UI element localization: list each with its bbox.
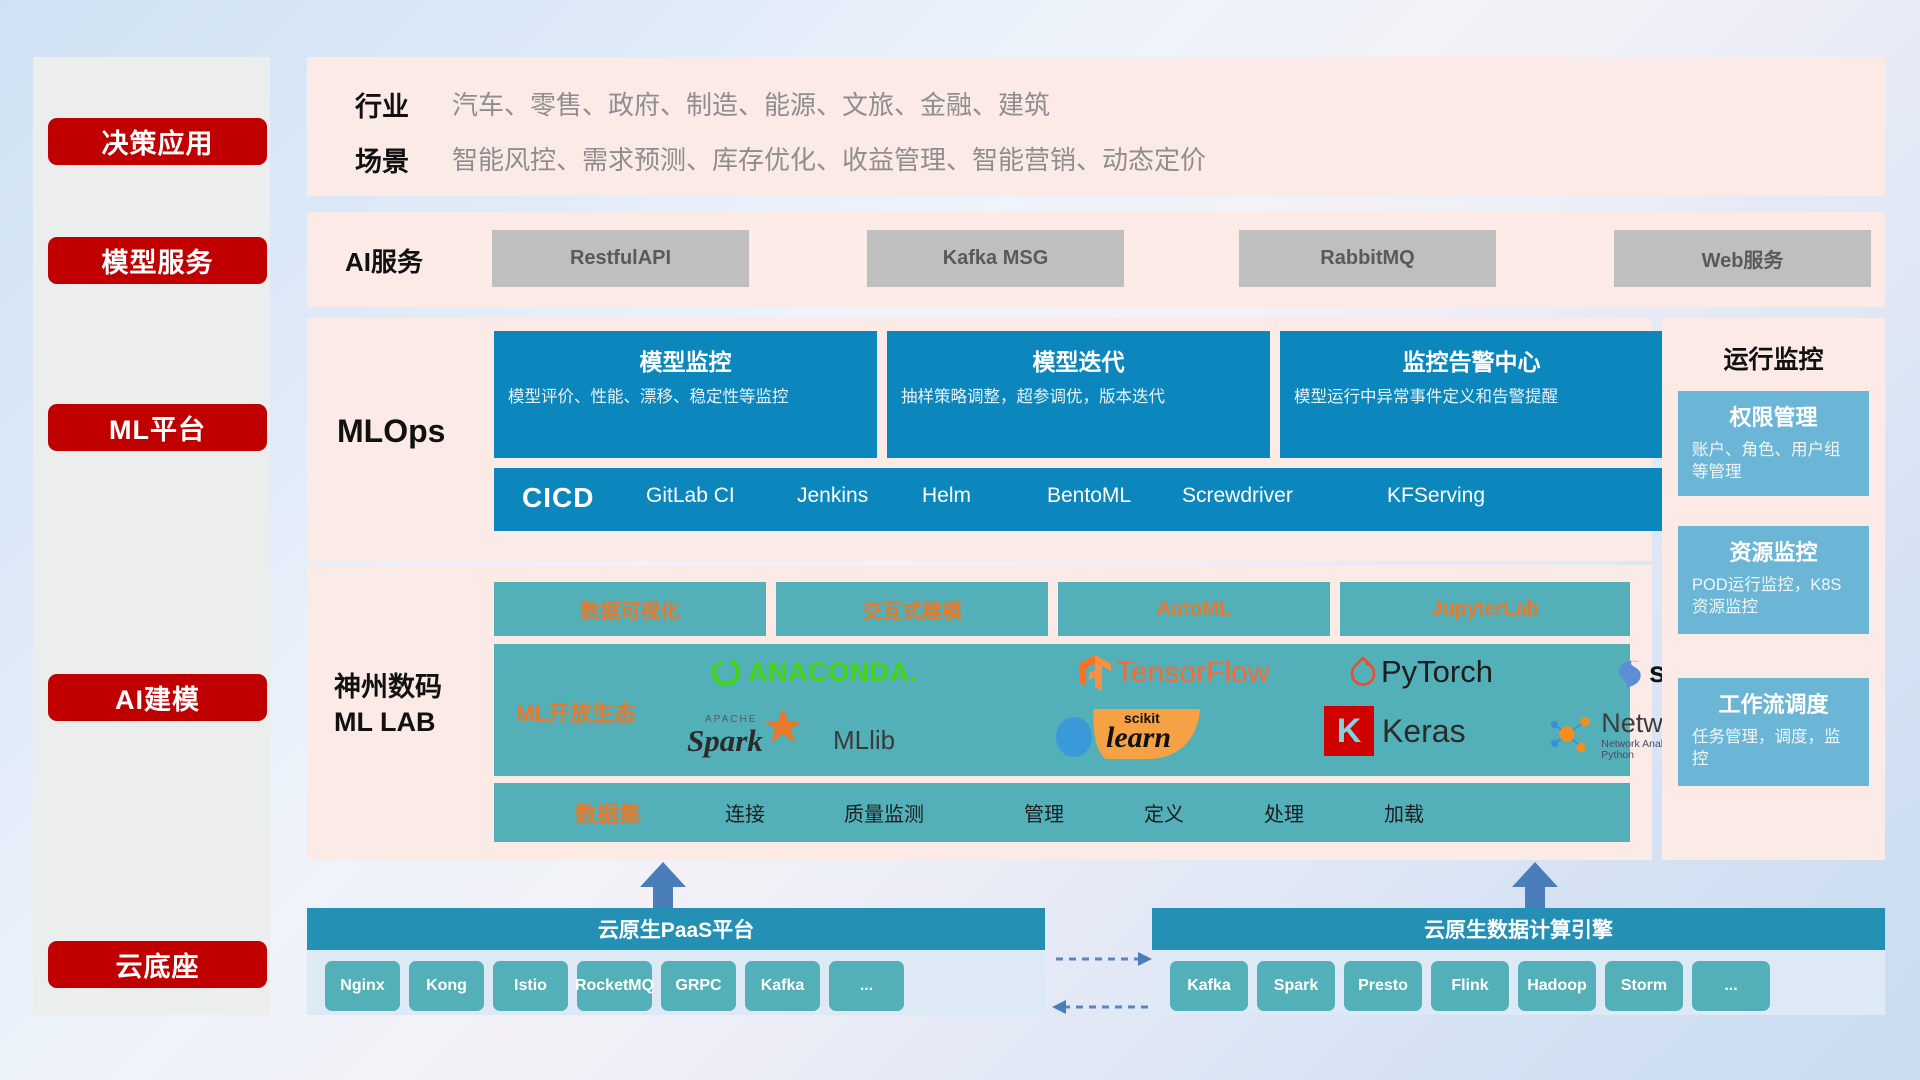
mllab-tab-automl[interactable]: AutoML xyxy=(1058,582,1330,636)
architecture-diagram: 决策应用 模型服务 ML平台 AI建模 云底座 行业 汽车、零售、政府、制造、能… xyxy=(0,0,1920,1080)
ai-service-chip-restfulapi[interactable]: RestfulAPI xyxy=(492,230,749,287)
dataset-item-process[interactable]: 处理 xyxy=(1264,798,1304,827)
keras-text: Keras xyxy=(1382,713,1466,750)
scikit-learn-logo: scikit learn xyxy=(1054,707,1212,761)
mlops-band: MLOps 模型监控 模型评价、性能、漂移、稳定性等监控 模型迭代 抽样策略调整… xyxy=(307,318,1652,561)
run-monitor-card-workflow[interactable]: 工作流调度 任务管理，调度，监控 xyxy=(1678,678,1869,786)
left-rail xyxy=(33,57,270,1015)
card-title: 模型迭代 xyxy=(887,343,1270,377)
ai-service-chip-rabbitmq[interactable]: RabbitMQ xyxy=(1239,230,1496,287)
cicd-item-jenkins[interactable]: Jenkins xyxy=(797,484,901,508)
run-monitor-title: 运行监控 xyxy=(1662,340,1885,376)
mllab-label-line1: 神州数码 xyxy=(334,670,442,705)
cicd-item-gitlab-ci[interactable]: GitLab CI xyxy=(646,484,750,508)
rail-item-ai-modeling[interactable]: AI建模 xyxy=(48,674,267,721)
pytorch-logo: PyTorch xyxy=(1349,654,1493,690)
paas-node-grpc[interactable]: GRPC xyxy=(661,961,736,1011)
engine-node-more[interactable]: ... xyxy=(1692,961,1770,1011)
keras-logo: K Keras xyxy=(1324,706,1466,756)
dataset-strip: 数据集 连接 质量监测 管理 定义 处理 加载 xyxy=(494,783,1630,842)
engine-node-kafka[interactable]: Kafka xyxy=(1170,961,1248,1011)
decision-band: 行业 汽车、零售、政府、制造、能源、文旅、金融、建筑 场景 智能风控、需求预测、… xyxy=(307,57,1885,196)
chip-label: Kafka MSG xyxy=(943,247,1049,270)
card-title: 资源监控 xyxy=(1678,535,1869,567)
decision-row-label-scenario: 场景 xyxy=(355,140,409,179)
keras-mark-letter: K xyxy=(1337,712,1362,751)
engine-node-storm[interactable]: Storm xyxy=(1605,961,1683,1011)
rail-item-model-service[interactable]: 模型服务 xyxy=(48,237,267,284)
dataset-item-connect[interactable]: 连接 xyxy=(725,798,765,827)
card-desc: 任务管理，调度，监控 xyxy=(1692,726,1855,771)
mlops-label: MLOps xyxy=(337,413,445,450)
card-title: 监控告警中心 xyxy=(1280,343,1663,377)
decision-row-value-industry: 汽车、零售、政府、制造、能源、文旅、金融、建筑 xyxy=(452,85,1050,122)
ecosystem-label: ML开放生态 xyxy=(516,696,636,728)
cicd-lead-label: CICD xyxy=(522,482,594,514)
scikit-orange-blob: scikit learn xyxy=(1092,707,1212,761)
mllab-tab-interactive-modeling[interactable]: 交互式建模 xyxy=(776,582,1048,636)
ai-service-chip-web-service[interactable]: Web服务 xyxy=(1614,230,1871,287)
mllab-label: 神州数码 ML LAB xyxy=(334,670,442,740)
cicd-item-screwdriver[interactable]: Screwdriver xyxy=(1182,484,1286,508)
cicd-item-kfserving[interactable]: KFServing xyxy=(1387,484,1491,508)
paas-node-rocketmq[interactable]: RocketMQ xyxy=(577,961,652,1011)
run-monitor-card-resources[interactable]: 资源监控 POD运行监控，K8S资源监控 xyxy=(1678,526,1869,634)
mllab-label-line2: ML LAB xyxy=(334,705,442,740)
spark-mark: APACHE Spark xyxy=(679,710,829,762)
cicd-item-bentoml[interactable]: BentoML xyxy=(1047,484,1151,508)
tensorflow-logo: TensorFlow xyxy=(1077,654,1269,692)
networkx-graph-icon xyxy=(1549,712,1596,758)
engine-node-presto[interactable]: Presto xyxy=(1344,961,1422,1011)
rail-label: 决策应用 xyxy=(102,122,214,161)
paas-node-kong[interactable]: Kong xyxy=(409,961,484,1011)
anaconda-logo: ANACONDA. xyxy=(709,655,918,689)
dataset-item-load[interactable]: 加载 xyxy=(1384,798,1424,827)
paas-box: 云原生PaaS平台 Nginx Kong Istio RocketMQ GRPC… xyxy=(307,908,1045,1015)
spark-star-icon xyxy=(763,706,803,744)
mllib-text: MLlib xyxy=(833,725,895,756)
ai-service-band: AI服务 RestfulAPI Kafka MSG RabbitMQ Web服务 xyxy=(307,212,1885,307)
mlops-card-alert-center[interactable]: 监控告警中心 模型运行中异常事件定义和告警提醒 xyxy=(1280,331,1663,458)
mlops-cicd-strip: CICD GitLab CI Jenkins Helm BentoML Scre… xyxy=(494,468,1663,531)
paas-node-more[interactable]: ... xyxy=(829,961,904,1011)
dataset-item-manage[interactable]: 管理 xyxy=(1024,798,1064,827)
paas-node-nginx[interactable]: Nginx xyxy=(325,961,400,1011)
anaconda-icon xyxy=(709,655,743,689)
anaconda-text: ANACONDA. xyxy=(748,657,918,688)
chip-label: RabbitMQ xyxy=(1320,247,1414,270)
pytorch-text: PyTorch xyxy=(1381,654,1493,690)
mlops-card-model-iteration[interactable]: 模型迭代 抽样策略调整，超参调优，版本迭代 xyxy=(887,331,1270,458)
tensorflow-icon xyxy=(1077,654,1113,692)
dataset-item-quality[interactable]: 质量监测 xyxy=(844,798,924,827)
arrow-up-paas-icon xyxy=(640,862,686,908)
mllab-tab-data-visualization[interactable]: 数据可视化 xyxy=(494,582,766,636)
card-desc: POD运行监控，K8S资源监控 xyxy=(1692,574,1855,619)
dataset-label: 数据集 xyxy=(575,797,641,829)
rail-item-cloud-base[interactable]: 云底座 xyxy=(48,941,267,988)
data-engine-header: 云原生数据计算引擎 xyxy=(1152,908,1885,950)
pytorch-icon xyxy=(1349,655,1377,689)
rail-item-ml-platform[interactable]: ML平台 xyxy=(48,404,267,451)
tensorflow-text: TensorFlow xyxy=(1116,656,1269,690)
run-monitor-panel: 运行监控 权限管理 账户、角色、用户组等管理 资源监控 POD运行监控，K8S资… xyxy=(1662,318,1885,860)
rail-item-decision[interactable]: 决策应用 xyxy=(48,118,267,165)
decision-row-label-industry: 行业 xyxy=(355,85,409,124)
chip-label: Web服务 xyxy=(1702,244,1784,273)
keras-mark-icon: K xyxy=(1324,706,1374,756)
bidirectional-connector xyxy=(1050,945,1154,1025)
spark-text: Spark xyxy=(687,723,763,759)
card-title: 权限管理 xyxy=(1678,400,1869,432)
cicd-item-helm[interactable]: Helm xyxy=(922,484,1026,508)
card-desc: 模型运行中异常事件定义和告警提醒 xyxy=(1294,386,1649,408)
dataset-item-define[interactable]: 定义 xyxy=(1144,798,1184,827)
chip-label: RestfulAPI xyxy=(570,247,671,270)
rail-label: ML平台 xyxy=(109,408,206,447)
card-desc: 模型评价、性能、漂移、稳定性等监控 xyxy=(508,386,863,408)
mlops-card-model-monitoring[interactable]: 模型监控 模型评价、性能、漂移、稳定性等监控 xyxy=(494,331,877,458)
mllab-band: 神州数码 ML LAB 数据可视化 交互式建模 AutoML JupyterLa… xyxy=(307,565,1652,860)
engine-node-hadoop[interactable]: Hadoop xyxy=(1518,961,1596,1011)
data-engine-box: 云原生数据计算引擎 Kafka Spark Presto Flink Hadoo… xyxy=(1152,908,1885,1015)
mllab-tab-jupyterlab[interactable]: JupyterLab xyxy=(1340,582,1630,636)
run-monitor-card-permissions[interactable]: 权限管理 账户、角色、用户组等管理 xyxy=(1678,391,1869,496)
card-desc: 抽样策略调整，超参调优，版本迭代 xyxy=(901,386,1256,408)
engine-node-flink[interactable]: Flink xyxy=(1431,961,1509,1011)
ai-service-label: AI服务 xyxy=(345,242,423,279)
spark-mllib-logo: APACHE Spark MLlib xyxy=(679,710,895,762)
rail-label: 模型服务 xyxy=(102,241,214,280)
engine-node-spark[interactable]: Spark xyxy=(1257,961,1335,1011)
decision-row-value-scenario: 智能风控、需求预测、库存优化、收益管理、智能营销、动态定价 xyxy=(452,140,1206,177)
arrow-up-data-engine-icon xyxy=(1512,862,1558,908)
ai-service-chip-kafka-msg[interactable]: Kafka MSG xyxy=(867,230,1124,287)
paas-node-kafka[interactable]: Kafka xyxy=(745,961,820,1011)
paas-header: 云原生PaaS平台 xyxy=(307,908,1045,950)
paas-node-istio[interactable]: Istio xyxy=(493,961,568,1011)
card-title: 工作流调度 xyxy=(1678,687,1869,719)
sas-icon xyxy=(1614,657,1648,689)
mllab-ecosystem-block: ML开放生态 ANACONDA. TensorFlow xyxy=(494,644,1630,776)
learn-text: learn xyxy=(1106,721,1171,755)
card-desc: 账户、角色、用户组等管理 xyxy=(1692,439,1855,484)
card-title: 模型监控 xyxy=(494,343,877,377)
rail-label: AI建模 xyxy=(115,678,200,717)
rail-label: 云底座 xyxy=(116,945,200,984)
